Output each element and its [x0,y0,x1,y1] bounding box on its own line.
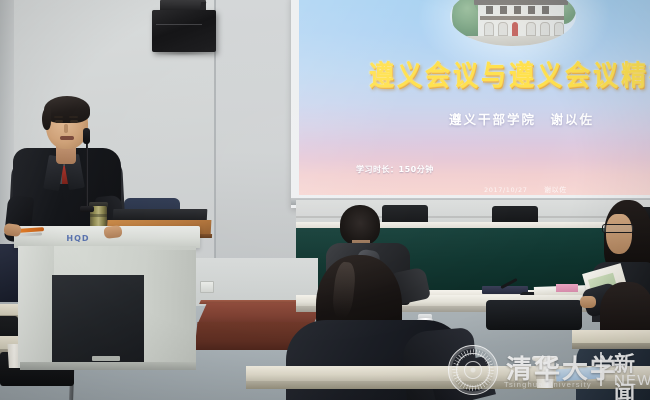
presenter-eye-left [55,120,63,123]
presenter-eye-right [70,120,78,123]
wall-speaker-icon [152,10,216,52]
presenter-hair-side [42,108,51,130]
audience-reader-hand [580,296,596,308]
podium-right-column [144,250,196,368]
slide-photo-zunyi-site [450,0,576,46]
desk-front-edge [246,381,650,389]
podium-vent [92,356,120,361]
microphone-base [80,206,94,212]
power-outlet-icon [200,281,214,293]
audience-reader-face [606,214,632,254]
desk-right [572,330,650,344]
thermos-band [90,214,107,217]
lecture-hall-photo: 遵义会议与遵义会议精神 遵义干部学院 谢以佐 学习时长：150分钟 2017/1… [0,0,650,400]
glasses-icon [602,224,634,233]
pink-paper [556,284,578,292]
presenter-brow-left [54,116,63,118]
presenter-brow-right [69,116,78,118]
podium-base [20,362,196,370]
paper-cup [534,358,556,388]
slide-author-note: 谢以佐 [544,185,567,195]
microphone-icon [83,128,90,144]
slide-subtitle: 遵义干部学院 谢以佐 [449,109,594,128]
presenter-mouth [60,136,74,140]
desk-right-edge [572,343,650,349]
podium-left-column [18,246,54,368]
presenter-hand-right [103,225,122,239]
presenter-hand-left [3,223,22,237]
slide-date: 2017/10/27 [484,186,527,194]
microphone-stem [86,140,88,210]
paper-cup-band [536,375,555,379]
slide-title: 遵义会议与遵义会议精神 [369,54,650,94]
presenter-nose [64,124,68,133]
chair-middle-1 [486,300,582,330]
podium-brand-label: HQD [56,233,100,244]
projection-screen: 遵义会议与遵义会议精神 遵义干部学院 谢以佐 学习时长：150分钟 2017/1… [299,0,650,195]
audience-man-head [340,205,380,245]
slide-duration-label: 学习时长：150分钟 [356,164,434,175]
podium-front-panel [52,275,144,365]
